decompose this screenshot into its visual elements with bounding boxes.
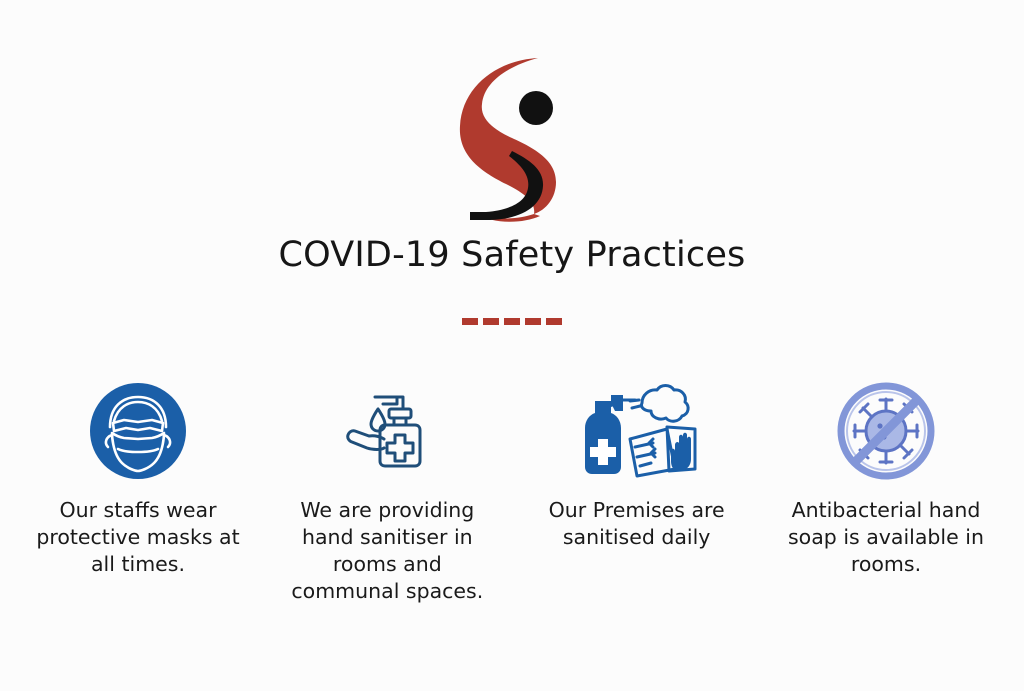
spray-cleaning-icon xyxy=(575,379,699,483)
practice-item: Our Premises are sanitised daily xyxy=(513,379,761,551)
logo-svg xyxy=(446,52,578,224)
practice-item: Our staffs wear protective masks at all … xyxy=(14,379,262,578)
practice-caption: Antibacterial hand soap is available in … xyxy=(776,497,996,578)
company-logo xyxy=(442,52,582,224)
face-mask-icon-svg xyxy=(88,381,188,481)
divider-dash xyxy=(462,318,478,325)
face-mask-icon xyxy=(88,379,188,483)
page-title: COVID-19 Safety Practices xyxy=(279,236,746,275)
hand-sanitiser-icon-svg xyxy=(337,381,437,481)
practice-item: Antibacterial hand soap is available in … xyxy=(762,379,1010,578)
dashed-divider xyxy=(462,317,562,327)
covid-safety-poster: COVID-19 Safety Practices xyxy=(0,0,1024,691)
hand-sanitiser-icon xyxy=(337,379,437,483)
no-virus-icon xyxy=(836,379,936,483)
practice-caption: Our Premises are sanitised daily xyxy=(527,497,747,551)
practice-item: We are providing hand sanitiser in rooms… xyxy=(263,379,511,605)
divider-dash xyxy=(546,318,562,325)
practices-row: Our staffs wear protective masks at all … xyxy=(0,379,1024,605)
practice-caption: Our staffs wear protective masks at all … xyxy=(28,497,248,578)
logo-dot xyxy=(519,91,553,125)
divider-dash xyxy=(483,318,499,325)
divider-dash xyxy=(525,318,541,325)
practice-caption: We are providing hand sanitiser in rooms… xyxy=(277,497,497,605)
divider-dash xyxy=(504,318,520,325)
no-virus-icon-svg xyxy=(836,381,936,481)
spray-cleaning-icon-svg xyxy=(575,381,699,481)
